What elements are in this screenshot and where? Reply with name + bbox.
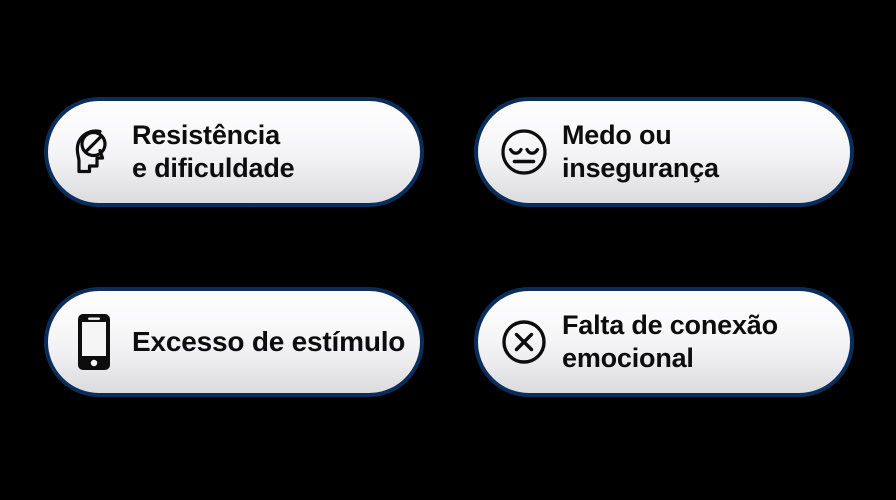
card-label-excesso: Excesso de estímulo bbox=[132, 325, 420, 359]
card-excesso[interactable]: Excesso de estímulo bbox=[44, 287, 424, 397]
x-circle-icon bbox=[496, 314, 552, 370]
head-blocked-icon bbox=[66, 124, 122, 180]
card-label-resistencia: Resistência e dificuldade bbox=[132, 119, 420, 185]
card-label-falta-conexao: Falta de conexão emocional bbox=[562, 309, 850, 375]
card-label-medo: Medo ou insegurança bbox=[562, 119, 850, 185]
smartphone-icon bbox=[66, 314, 122, 370]
card-medo[interactable]: Medo ou insegurança bbox=[474, 97, 854, 207]
card-falta-conexao[interactable]: Falta de conexão emocional bbox=[474, 287, 854, 397]
card-resistencia[interactable]: Resistência e dificuldade bbox=[44, 97, 424, 207]
sad-face-icon bbox=[496, 124, 552, 180]
slide-canvas: Resistência e dificuldade Medo ou insegu… bbox=[0, 0, 896, 500]
